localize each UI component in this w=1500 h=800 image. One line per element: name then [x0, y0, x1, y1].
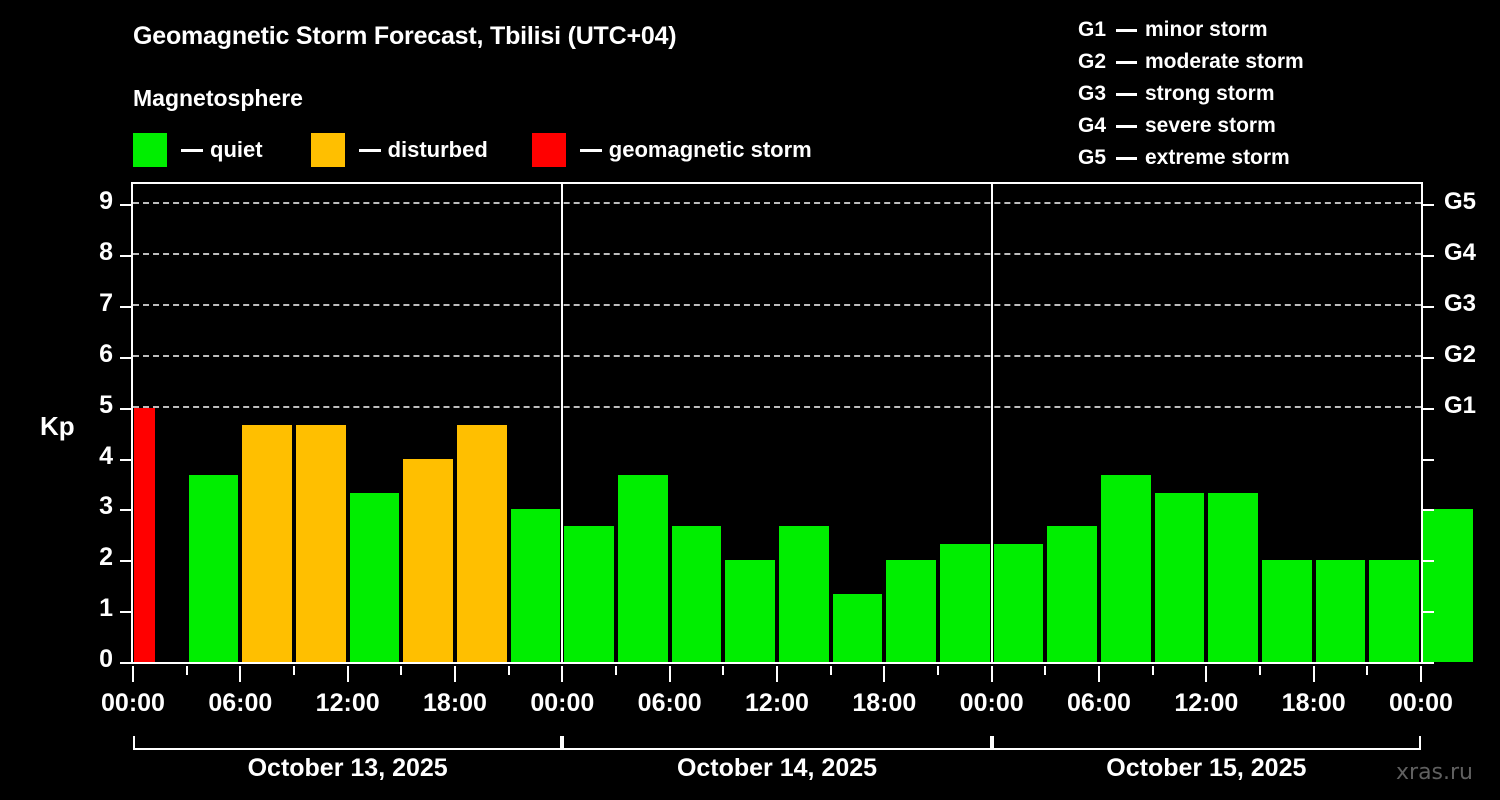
y-tick-label-7: 7: [73, 289, 113, 318]
y-tick-left: [120, 306, 131, 308]
g-scale-label-g2: G2: [1444, 341, 1476, 369]
plot-inner: [133, 184, 1421, 662]
bar: [1208, 493, 1258, 662]
x-tick-minor: [937, 666, 939, 675]
bar: [296, 425, 346, 662]
g-legend-row-g5: G5extreme storm: [1078, 142, 1304, 174]
y-tick-right: [1423, 357, 1434, 359]
x-tick-major: [669, 666, 671, 682]
y-tick-label-9: 9: [73, 187, 113, 216]
series-title: Magnetosphere: [133, 85, 303, 112]
x-tick-major: [883, 666, 885, 682]
x-tick-minor: [508, 666, 510, 675]
x-tick-major: [1420, 666, 1422, 682]
bar: [1262, 560, 1312, 662]
geomagnetic-storm-swatch-icon: [532, 133, 566, 167]
x-tick-major: [239, 666, 241, 682]
y-tick-left: [120, 509, 131, 511]
plot-area: [131, 182, 1423, 664]
x-tick-major: [347, 666, 349, 682]
y-tick-left: [120, 204, 131, 206]
x-tick-label: 00:00: [530, 689, 594, 718]
bar: [1155, 493, 1205, 662]
y-tick-left: [120, 611, 131, 613]
x-tick-minor: [722, 666, 724, 675]
g-legend-dash-icon: [1116, 125, 1137, 128]
g-scale-label-g4: G4: [1444, 239, 1476, 267]
x-tick-label: 18:00: [423, 689, 487, 718]
bar: [833, 594, 883, 662]
day-bracket: [992, 736, 1421, 750]
x-tick-label: 06:00: [208, 689, 272, 718]
g-legend-row-g3: G3strong storm: [1078, 78, 1304, 110]
bar: [189, 475, 239, 662]
disturbed-swatch-icon: [311, 133, 345, 167]
legend-dash-icon: [580, 149, 602, 152]
y-tick-label-2: 2: [73, 543, 113, 572]
gridline-kp-6: [133, 355, 1421, 357]
day-label: October 15, 2025: [1106, 754, 1306, 783]
x-tick-major: [1098, 666, 1100, 682]
legend-item-disturbed: disturbed: [311, 133, 488, 167]
y-tick-left: [120, 357, 131, 359]
color-legend: quiet disturbed geomagnetic storm: [133, 133, 812, 167]
legend-item-geomagnetic-storm: geomagnetic storm: [532, 133, 812, 167]
geomagnetic-forecast-chart: Geomagnetic Storm Forecast, Tbilisi (UTC…: [0, 0, 1500, 800]
bar: [1316, 560, 1366, 662]
day-separator: [991, 184, 993, 662]
x-tick-label: 18:00: [1282, 689, 1346, 718]
page-title: Geomagnetic Storm Forecast, Tbilisi (UTC…: [133, 22, 676, 51]
g-legend-row-g1: G1minor storm: [1078, 14, 1304, 46]
legend-label-disturbed: disturbed: [388, 137, 488, 163]
legend-item-quiet: quiet: [133, 133, 263, 167]
y-tick-right: [1423, 306, 1434, 308]
bar: [725, 560, 775, 662]
x-tick-minor: [1366, 666, 1368, 675]
legend-label-quiet: quiet: [210, 137, 263, 163]
g-legend-row-g4: G4severe storm: [1078, 110, 1304, 142]
y-tick-left: [120, 662, 131, 664]
bar: [403, 459, 453, 662]
legend-dash-icon: [181, 149, 203, 152]
x-tick-label: 18:00: [852, 689, 916, 718]
day-label: October 13, 2025: [248, 754, 448, 783]
bar: [672, 526, 722, 662]
g-legend-code: G2: [1078, 50, 1110, 74]
g-scale-label-g5: G5: [1444, 188, 1476, 216]
y-tick-right: [1423, 459, 1434, 461]
g-scale-label-g1: G1: [1444, 392, 1476, 420]
y-tick-label-3: 3: [73, 492, 113, 521]
bar: [994, 544, 1044, 662]
x-tick-minor: [293, 666, 295, 675]
g-legend-dash-icon: [1116, 29, 1137, 32]
x-tick-minor: [1259, 666, 1261, 675]
bar: [1047, 526, 1097, 662]
g-legend-code: G4: [1078, 114, 1110, 138]
x-tick-label: 00:00: [101, 689, 165, 718]
x-tick-label: 12:00: [745, 689, 809, 718]
day-label: October 14, 2025: [677, 754, 877, 783]
x-tick-label: 06:00: [1067, 689, 1131, 718]
x-tick-major: [1205, 666, 1207, 682]
bar: [886, 560, 936, 662]
day-separator: [561, 184, 563, 662]
y-tick-right: [1423, 408, 1434, 410]
y-tick-label-4: 4: [73, 442, 113, 471]
day-bracket: [562, 736, 991, 750]
g-legend-row-g2: G2moderate storm: [1078, 46, 1304, 78]
gridline-kp-8: [133, 253, 1421, 255]
g-legend-code: G1: [1078, 18, 1110, 42]
y-tick-right: [1423, 255, 1434, 257]
x-tick-major: [776, 666, 778, 682]
g-scale-legend: G1minor stormG2moderate stormG3strong st…: [1078, 14, 1304, 174]
y-tick-label-8: 8: [73, 238, 113, 267]
x-tick-minor: [830, 666, 832, 675]
bar: [350, 493, 400, 662]
gridline-kp-9: [133, 202, 1421, 204]
bar: [1423, 509, 1473, 662]
y-tick-right: [1423, 662, 1434, 664]
watermark: xras.ru: [1396, 760, 1473, 785]
y-axis-title: Kp: [40, 411, 75, 442]
g-scale-label-g3: G3: [1444, 290, 1476, 318]
bar: [1369, 560, 1419, 662]
legend-label-geomagnetic-storm: geomagnetic storm: [609, 137, 812, 163]
g-legend-dash-icon: [1116, 157, 1137, 160]
x-tick-major: [454, 666, 456, 682]
g-legend-text: moderate storm: [1145, 50, 1304, 74]
x-tick-major: [132, 666, 134, 682]
gridline-kp-7: [133, 304, 1421, 306]
y-tick-label-5: 5: [73, 391, 113, 420]
quiet-swatch-icon: [133, 133, 167, 167]
y-tick-left: [120, 459, 131, 461]
g-legend-text: severe storm: [1145, 114, 1276, 138]
y-tick-right: [1423, 611, 1434, 613]
y-tick-left: [120, 560, 131, 562]
y-tick-right: [1423, 509, 1434, 511]
legend-dash-icon: [359, 149, 381, 152]
bar: [940, 544, 990, 662]
x-tick-label: 12:00: [1174, 689, 1238, 718]
gridline-kp-5: [133, 406, 1421, 408]
bar: [1101, 475, 1151, 662]
g-legend-code: G5: [1078, 146, 1110, 170]
bar: [618, 475, 668, 662]
x-tick-label: 00:00: [1389, 689, 1453, 718]
y-tick-label-6: 6: [73, 340, 113, 369]
g-legend-dash-icon: [1116, 61, 1137, 64]
g-legend-dash-icon: [1116, 93, 1137, 96]
x-tick-label: 00:00: [960, 689, 1024, 718]
bar: [242, 425, 292, 662]
y-tick-right: [1423, 204, 1434, 206]
y-tick-label-0: 0: [73, 645, 113, 674]
bar: [511, 509, 561, 662]
x-tick-major: [1313, 666, 1315, 682]
x-tick-major: [991, 666, 993, 682]
g-legend-code: G3: [1078, 82, 1110, 106]
day-bracket: [133, 736, 562, 750]
g-legend-text: minor storm: [1145, 18, 1268, 42]
y-tick-right: [1423, 560, 1434, 562]
g-legend-text: extreme storm: [1145, 146, 1290, 170]
x-tick-minor: [1152, 666, 1154, 675]
x-tick-label: 12:00: [316, 689, 380, 718]
y-tick-left: [120, 255, 131, 257]
x-tick-minor: [400, 666, 402, 675]
bar: [134, 408, 155, 662]
y-tick-label-1: 1: [73, 594, 113, 623]
x-tick-minor: [615, 666, 617, 675]
bar: [457, 425, 507, 662]
bar: [564, 526, 614, 662]
g-legend-text: strong storm: [1145, 82, 1275, 106]
x-tick-label: 06:00: [638, 689, 702, 718]
y-tick-left: [120, 408, 131, 410]
bar: [779, 526, 829, 662]
x-tick-major: [561, 666, 563, 682]
x-tick-minor: [1044, 666, 1046, 675]
x-tick-minor: [186, 666, 188, 675]
